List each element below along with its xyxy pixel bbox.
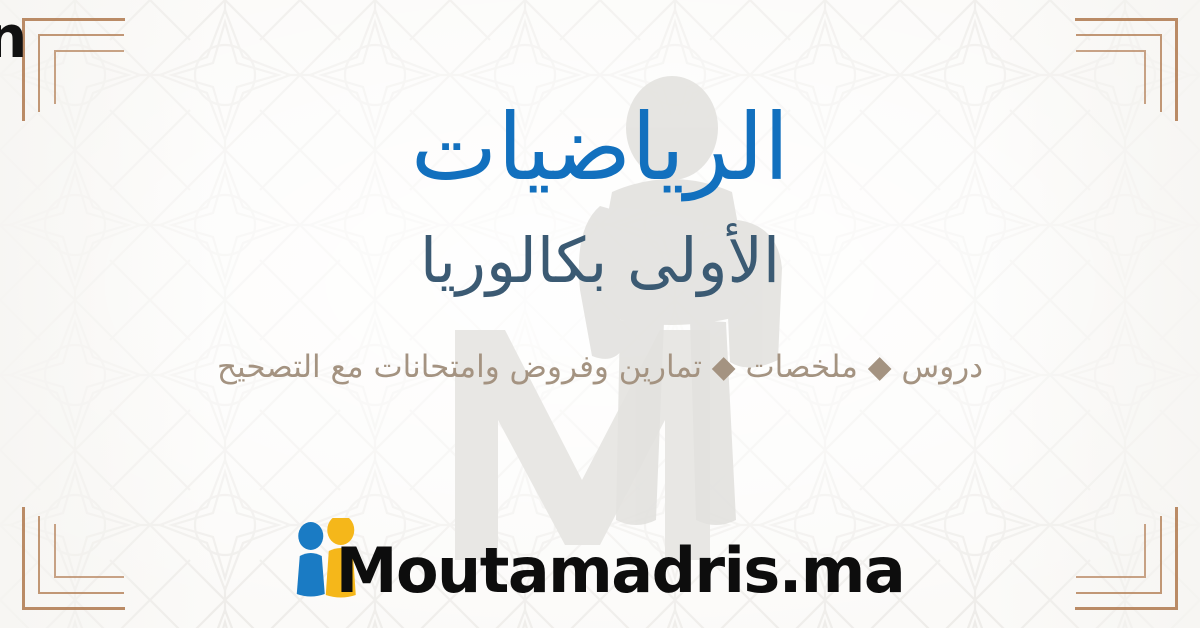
logo-wordmark: Moutamadris.ma xyxy=(336,540,904,614)
site-logo[interactable]: Moutamadris.ma xyxy=(296,510,904,614)
page-subtitle: الأولى بكالوريا xyxy=(420,199,780,296)
page-tagline: دروس ◆ ملخصات ◆ تمارين وفروض وامتحانات م… xyxy=(217,296,983,387)
page-title: الرياضيات xyxy=(411,0,790,199)
share-card: n الرياضيات الأولى بكالوريا دروس ◆ ملخصا… xyxy=(0,0,1200,628)
student-figure-blue xyxy=(297,522,325,597)
